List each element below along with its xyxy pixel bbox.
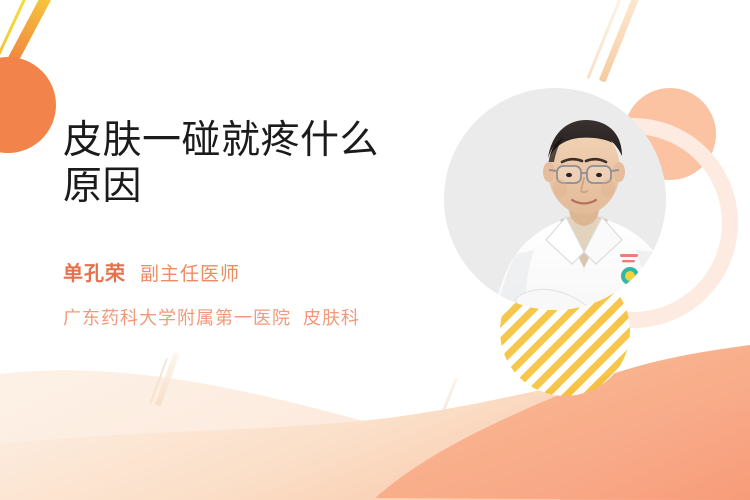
doctor-name: 单孔荣 <box>63 257 126 286</box>
stripe-faint-bottom-a <box>155 352 180 407</box>
stripe-faint-bottom-b <box>150 358 168 404</box>
page-title: 皮肤一碰就疼什么 原因 <box>63 118 443 210</box>
stripe-thin-yellow <box>0 0 33 80</box>
doctor-department: 皮肤科 <box>303 304 360 330</box>
doctor-portrait-group <box>420 70 750 400</box>
text-block: 皮肤一碰就疼什么 原因 单孔荣 副主任医师 广东药科大学附属第一医院 皮肤科 <box>63 118 443 330</box>
wave-accent <box>560 408 750 500</box>
doctor-affiliation-row: 广东药科大学附属第一医院 皮肤科 <box>63 304 443 330</box>
doctor-hospital: 广东药科大学附属第一医院 <box>63 304 291 330</box>
doctor-portrait-image <box>454 98 666 310</box>
portrait-backdrop-circle <box>444 88 666 310</box>
doctor-rank: 副主任医师 <box>140 259 240 286</box>
stripe-faint-top-right-b <box>586 0 624 79</box>
decor-circle-orange-left <box>0 57 56 153</box>
cover-card: 皮肤一碰就疼什么 原因 单孔荣 副主任医师 广东药科大学附属第一医院 皮肤科 <box>0 0 750 500</box>
doctor-credential-row: 单孔荣 副主任医师 <box>63 257 443 286</box>
stripe-thick-orange <box>3 0 56 72</box>
